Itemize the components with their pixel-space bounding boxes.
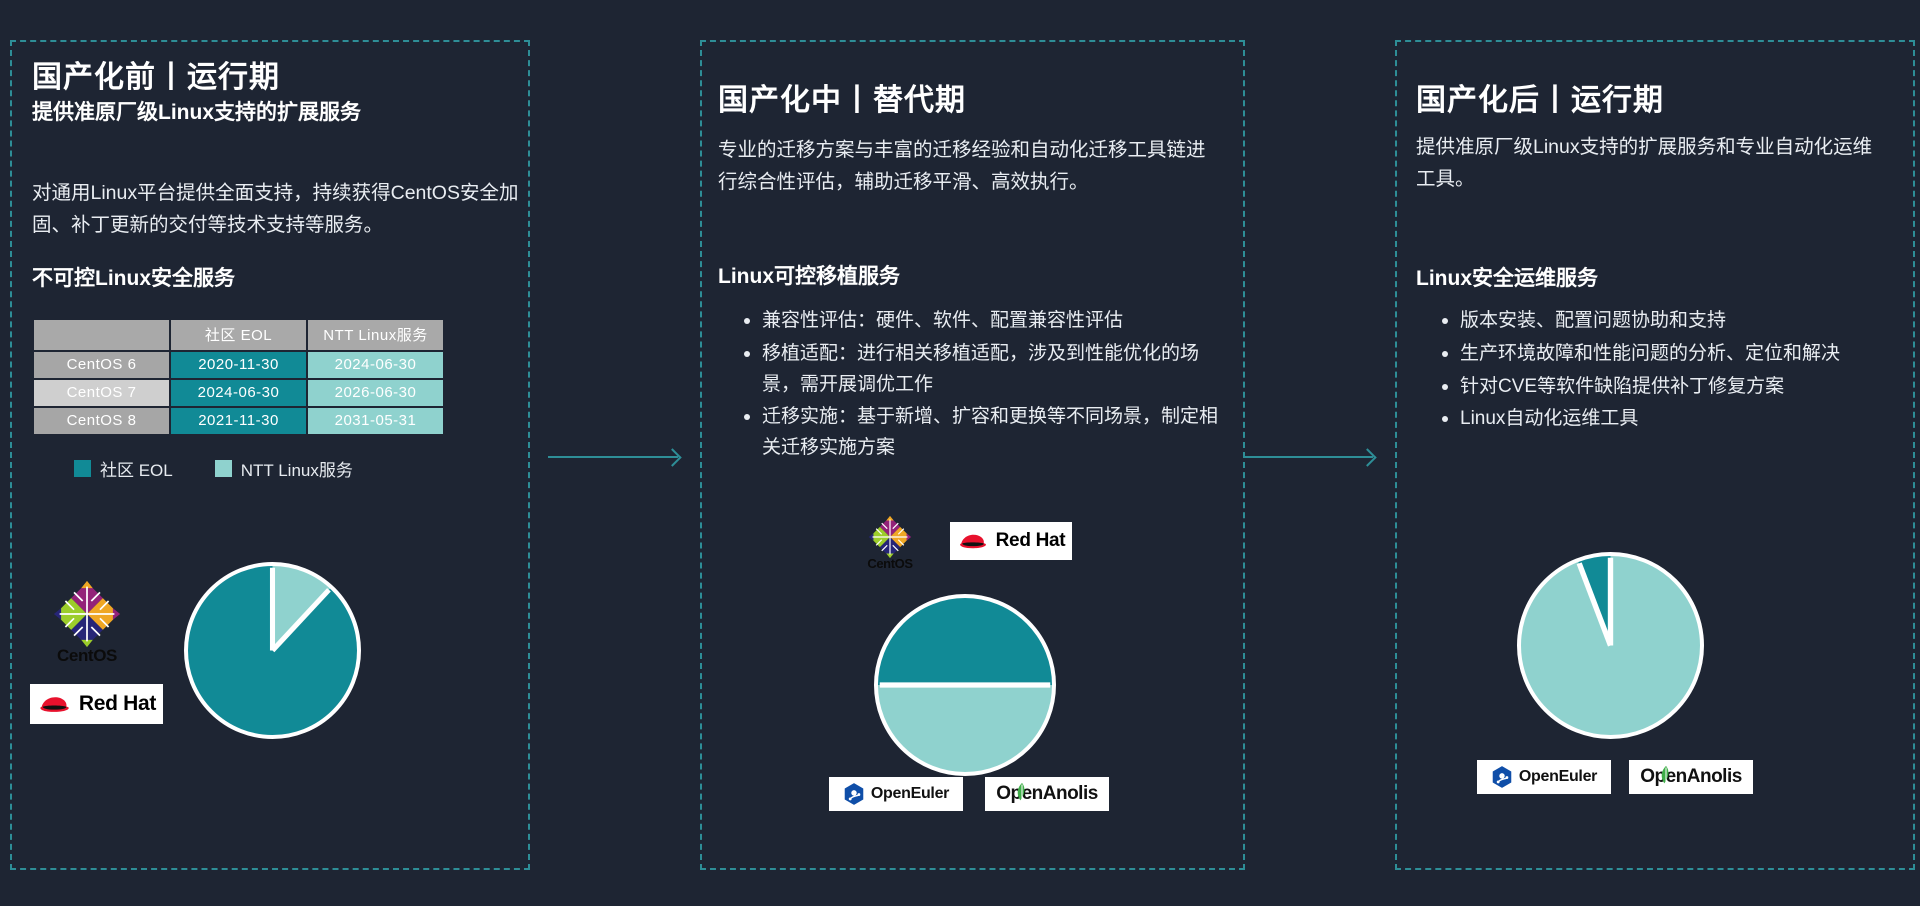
- list-item: 兼容性评估：硬件、软件、配置兼容性评估: [744, 306, 1228, 337]
- list-item: 生产环境故障和性能问题的分析、定位和解决: [1442, 339, 1916, 370]
- pie-separators: [878, 598, 1052, 772]
- panel-3-section-heading-wrap: Linux安全运维服务: [1416, 262, 1896, 292]
- table-cell-eol: 2024-06-30: [171, 380, 306, 406]
- table-cell-os: CentOS 7: [34, 380, 169, 406]
- panel-2-body: 专业的迁移方案与丰富的迁移经验和自动化迁移工具链进行综合性评估，辅助迁移平滑、高…: [718, 135, 1223, 198]
- panel-3-bullet-list: 版本安装、配置问题协助和支持 生产环境故障和性能问题的分析、定位和解决 针对CV…: [1416, 306, 1916, 435]
- pie-chart-during: [874, 594, 1056, 776]
- legend-label: NTT Linux服务: [241, 456, 353, 481]
- table-header-ntt-linux: NTT Linux服务: [308, 320, 443, 350]
- panel-3-title-wrap: 国产化后丨运行期: [1416, 75, 1906, 119]
- panel-before-localization: [10, 40, 530, 870]
- panel-2-section-heading-wrap: Linux可控移植服务: [718, 260, 1223, 290]
- panel-3-body-wrap: 提供准原厂级Linux支持的扩展服务和专业自动化运维工具。: [1416, 132, 1886, 195]
- openeuler-logo-2: OpenEuler: [829, 777, 963, 811]
- legend-swatch-icon: [74, 460, 91, 477]
- arrow-during-to-after: [1243, 456, 1373, 458]
- pie-chart-after: [1517, 552, 1704, 739]
- list-item: 移植适配：进行相关移植适配，涉及到性能优化的场景，需开展调优工作: [744, 339, 1228, 401]
- list-item: Linux自动化运维工具: [1442, 404, 1916, 435]
- openeuler-lockup: OpenEuler: [1491, 765, 1597, 789]
- legend-swatch-icon: [215, 460, 232, 477]
- slide-canvas: 国产化前丨运行期 提供准原厂级Linux支持的扩展服务 对通用Linux平台提供…: [0, 0, 1920, 906]
- openeuler-lockup: OpenEuler: [843, 782, 949, 806]
- table-cell-ntt: 2031-05-31: [308, 408, 443, 434]
- table-header-row: 社区 EOL NTT Linux服务: [34, 320, 443, 350]
- panel-1-body-wrap: 对通用Linux平台提供全面支持，持续获得CentOS安全加固、补丁更新的交付等…: [32, 178, 532, 241]
- panel-3-title: 国产化后丨运行期: [1416, 75, 1906, 119]
- panel-3-bullets-wrap: 版本安装、配置问题协助和支持 生产环境故障和性能问题的分析、定位和解决 针对CV…: [1416, 306, 1916, 437]
- panel-2-body-wrap: 专业的迁移方案与丰富的迁移经验和自动化迁移工具链进行综合性评估，辅助迁移平滑、高…: [718, 135, 1223, 198]
- table-row: CentOS 6 2020-11-30 2024-06-30: [34, 352, 443, 378]
- eol-table-wrap: 社区 EOL NTT Linux服务 CentOS 6 2020-11-30 2…: [32, 318, 445, 436]
- table-header-community-eol: 社区 EOL: [171, 320, 306, 350]
- redhat-lockup: Red Hat: [957, 530, 1066, 552]
- openanolis-leaf-icon: [1013, 782, 1031, 802]
- table-row: CentOS 8 2021-11-30 2031-05-31: [34, 408, 443, 434]
- redhat-logo-2: Red Hat: [950, 522, 1072, 560]
- openanolis-wordmark: OpenAnolis: [996, 783, 1098, 804]
- table-cell-eol: 2021-11-30: [171, 408, 306, 434]
- table-cell-ntt: 2024-06-30: [308, 352, 443, 378]
- openeuler-icon: [843, 782, 865, 806]
- openeuler-wordmark: OpenEuler: [871, 785, 949, 803]
- panel-1-subtitle-wrap: 提供准原厂级Linux支持的扩展服务: [32, 98, 532, 128]
- redhat-wordmark: Red Hat: [79, 692, 156, 716]
- redhat-logo-1: Red Hat: [30, 684, 163, 724]
- pie-chart-before: [184, 562, 361, 739]
- table-cell-eol: 2020-11-30: [171, 352, 306, 378]
- pie-separators: [188, 566, 357, 735]
- centos-caption: CentOS: [42, 646, 132, 666]
- openanolis-leaf-icon: [1657, 765, 1675, 785]
- openeuler-logo-3: OpenEuler: [1477, 760, 1611, 794]
- legend-label: 社区 EOL: [100, 456, 173, 481]
- panel-1-title: 国产化前丨运行期: [32, 52, 532, 96]
- panel-2-bullets-wrap: 兼容性评估：硬件、软件、配置兼容性评估 移植适配：进行相关移植适配，涉及到性能优…: [718, 306, 1228, 466]
- openanolis-logo-3: OpenAnolis: [1629, 760, 1753, 794]
- redhat-wordmark: Red Hat: [996, 530, 1066, 552]
- panel-2-title-wrap: 国产化中丨替代期: [718, 75, 1228, 119]
- panel-2-title: 国产化中丨替代期: [718, 75, 1228, 119]
- openeuler-icon: [1491, 765, 1513, 789]
- pie-separators: [1521, 556, 1700, 735]
- centos-icon: [51, 578, 123, 650]
- centos-logo-1: CentOS: [42, 578, 132, 666]
- openanolis-lockup: OpenAnolis: [1640, 766, 1742, 788]
- panel-2-section-heading: Linux可控移植服务: [718, 260, 1223, 290]
- openanolis-wordmark: OpenAnolis: [1640, 766, 1742, 787]
- table-cell-os: CentOS 6: [34, 352, 169, 378]
- redhat-fedora-icon: [957, 530, 988, 552]
- panel-2-bullet-list: 兼容性评估：硬件、软件、配置兼容性评估 移植适配：进行相关移植适配，涉及到性能优…: [718, 306, 1228, 464]
- panel-1-title-wrap: 国产化前丨运行期: [32, 52, 532, 96]
- redhat-fedora-icon: [37, 692, 71, 716]
- panel-3-section-heading: Linux安全运维服务: [1416, 262, 1896, 292]
- table-row: CentOS 7 2024-06-30 2026-06-30: [34, 380, 443, 406]
- table-cell-ntt: 2026-06-30: [308, 380, 443, 406]
- panel-1-section-heading: 不可控Linux安全服务: [32, 262, 532, 292]
- redhat-lockup: Red Hat: [37, 692, 156, 716]
- panel-1-subtitle: 提供准原厂级Linux支持的扩展服务: [32, 98, 532, 128]
- list-item: 迁移实施：基于新增、扩容和更换等不同场景，制定相关迁移实施方案: [744, 402, 1228, 464]
- panel-3-body: 提供准原厂级Linux支持的扩展服务和专业自动化运维工具。: [1416, 132, 1886, 195]
- centos-caption: CentOS: [855, 556, 925, 571]
- panel-1-section-heading-wrap: 不可控Linux安全服务: [32, 262, 532, 292]
- list-item: 针对CVE等软件缺陷提供补丁修复方案: [1442, 372, 1916, 403]
- panel-1-body: 对通用Linux平台提供全面支持，持续获得CentOS安全加固、补丁更新的交付等…: [32, 178, 532, 241]
- openanolis-logo-2: OpenAnolis: [985, 777, 1109, 811]
- eol-table: 社区 EOL NTT Linux服务 CentOS 6 2020-11-30 2…: [32, 318, 445, 436]
- table-header-blank: [34, 320, 169, 350]
- arrow-before-to-during: [548, 456, 678, 458]
- openeuler-wordmark: OpenEuler: [1519, 768, 1597, 786]
- legend-item-community-eol: 社区 EOL: [74, 456, 173, 481]
- centos-icon: [867, 514, 913, 560]
- openanolis-lockup: OpenAnolis: [996, 783, 1098, 805]
- table-cell-os: CentOS 8: [34, 408, 169, 434]
- centos-logo-2: CentOS: [855, 514, 925, 571]
- list-item: 版本安装、配置问题协助和支持: [1442, 306, 1916, 337]
- pie-legend: 社区 EOL NTT Linux服务: [74, 456, 353, 481]
- legend-item-ntt-linux: NTT Linux服务: [215, 456, 353, 481]
